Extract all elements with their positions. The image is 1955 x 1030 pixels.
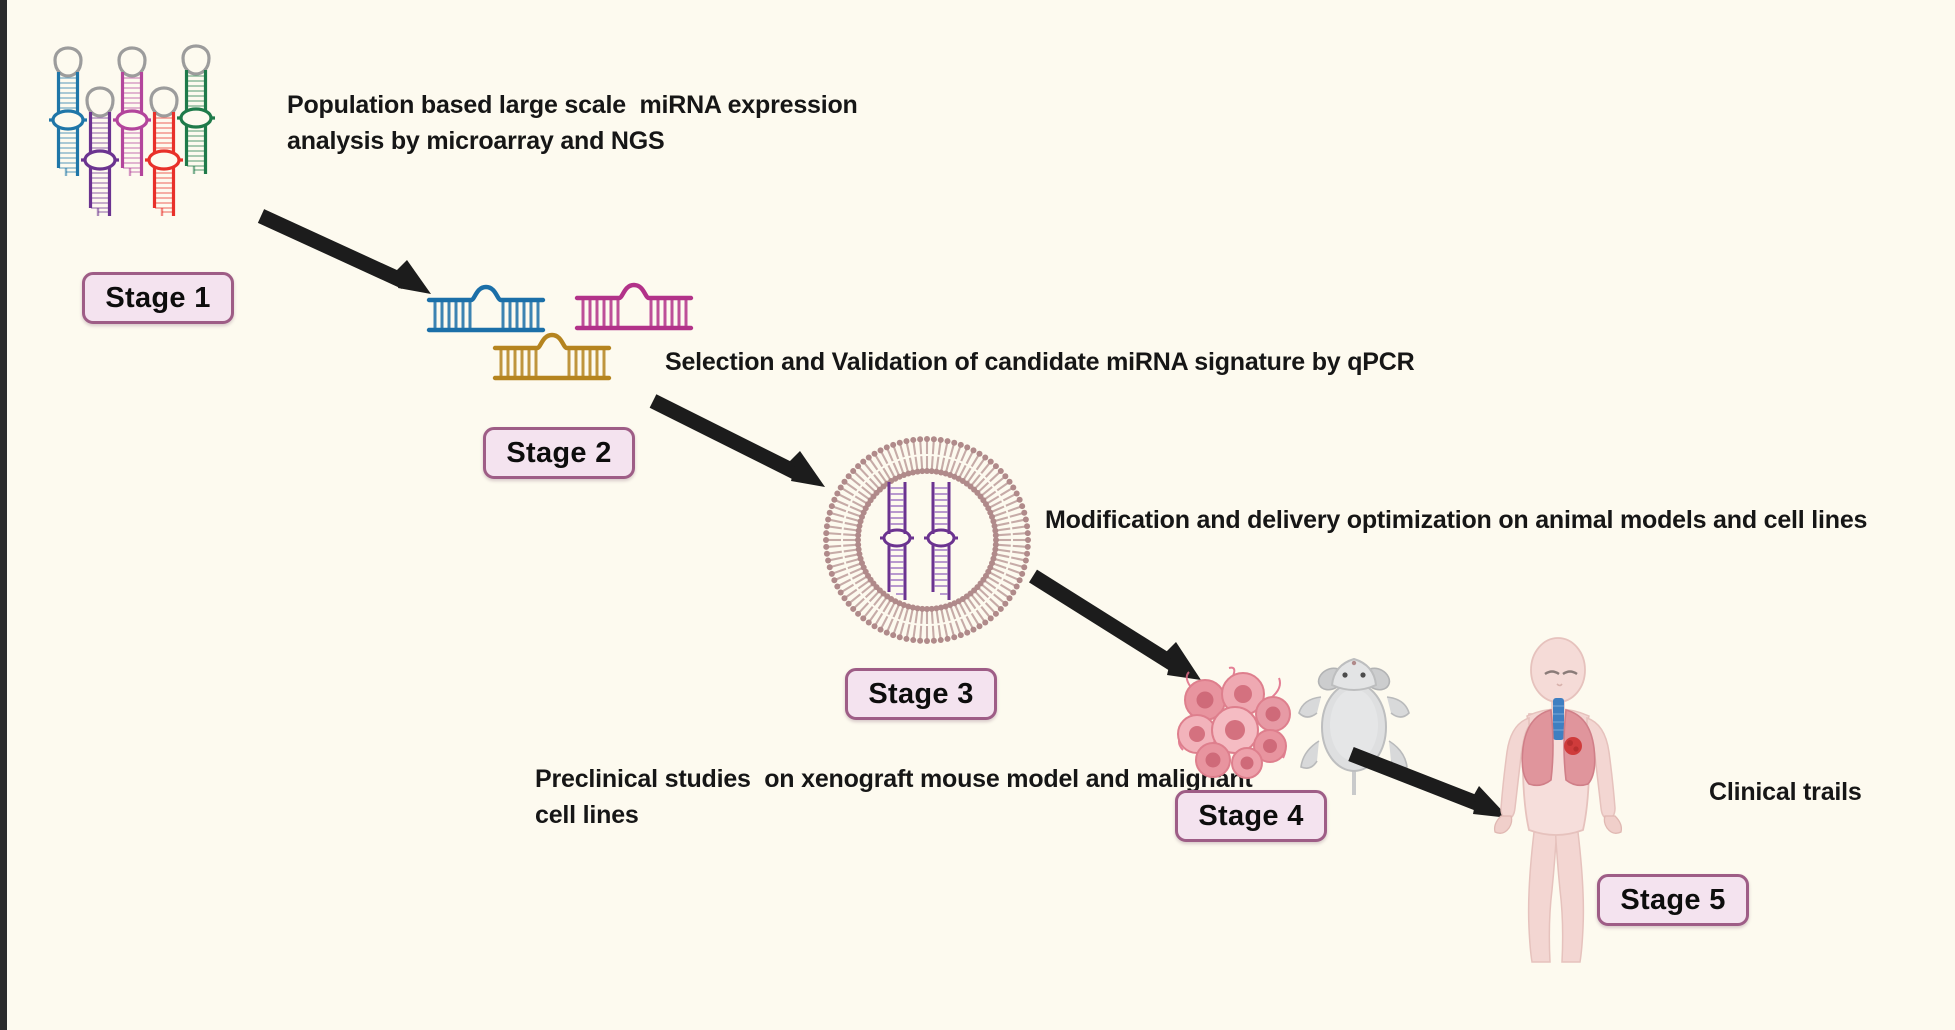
caption-stage2: Selection and Validation of candidate mi… bbox=[665, 345, 1415, 381]
stage-3-badge[interactable]: Stage 3 bbox=[845, 668, 997, 720]
liposome-nanoparticle: radial lipid layer bbox=[807, 420, 1047, 660]
arrow-1-to-2 bbox=[255, 210, 445, 300]
diagram-canvas: Population based large scale miRNA expre… bbox=[0, 0, 1955, 1030]
caption-stage3: Modification and delivery optimization o… bbox=[1045, 503, 1867, 539]
stage-4-label: Stage 4 bbox=[1198, 800, 1303, 833]
stage-4-badge[interactable]: Stage 4 bbox=[1175, 790, 1327, 842]
caption-stage4: Preclinical studies on xenograft mouse m… bbox=[535, 762, 1253, 833]
stage-2-badge[interactable]: Stage 2 bbox=[483, 427, 635, 479]
stage-1-badge[interactable]: Stage 1 bbox=[82, 272, 234, 324]
caption-stage5: Clinical trails bbox=[1709, 775, 1862, 811]
caption-stage1: Population based large scale miRNA expre… bbox=[287, 88, 858, 159]
tumor-cell-cluster bbox=[1175, 668, 1295, 780]
stage-5-badge[interactable]: Stage 5 bbox=[1597, 874, 1749, 926]
stage-1-label: Stage 1 bbox=[105, 282, 210, 315]
pre-mirna-hairpin-cluster bbox=[45, 28, 270, 218]
stage-2-label: Stage 2 bbox=[506, 437, 611, 470]
stage-5-label: Stage 5 bbox=[1620, 884, 1725, 917]
stage-3-label: Stage 3 bbox=[868, 678, 973, 711]
